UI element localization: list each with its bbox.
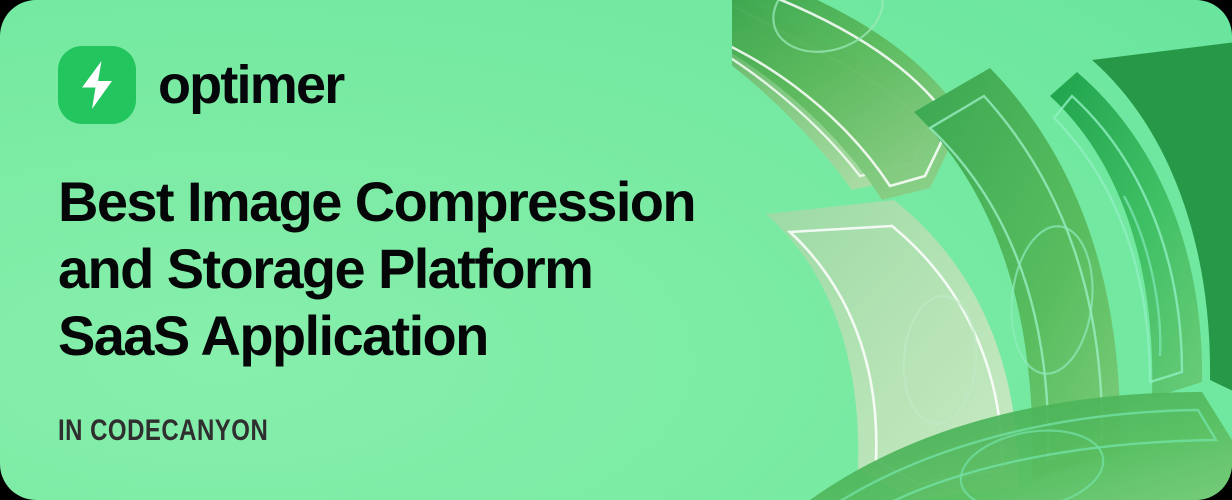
headline-line-1: Best Image Compression: [58, 168, 758, 235]
source-label: IN CODECANYON: [58, 414, 268, 448]
headline-line-2: and Storage Platform: [58, 235, 758, 302]
banknote-right-dark: [1050, 40, 1232, 400]
headline-line-3: SaaS Application: [58, 302, 758, 369]
banner-content: optimer Best Image Compression and Stora…: [58, 0, 798, 500]
banknote-front-light: [766, 200, 1018, 500]
lightning-bolt-icon: [58, 46, 136, 124]
promo-banner-card: optimer Best Image Compression and Stora…: [0, 0, 1232, 500]
banknote-mid: [914, 68, 1120, 480]
brand-lockup: optimer: [58, 46, 798, 124]
page-title: Best Image Compression and Storage Platf…: [58, 168, 758, 369]
brand-name: optimer: [158, 58, 343, 112]
banknote-bottom: [792, 392, 1232, 500]
banknotes-fan-illustration: [732, 0, 1232, 500]
